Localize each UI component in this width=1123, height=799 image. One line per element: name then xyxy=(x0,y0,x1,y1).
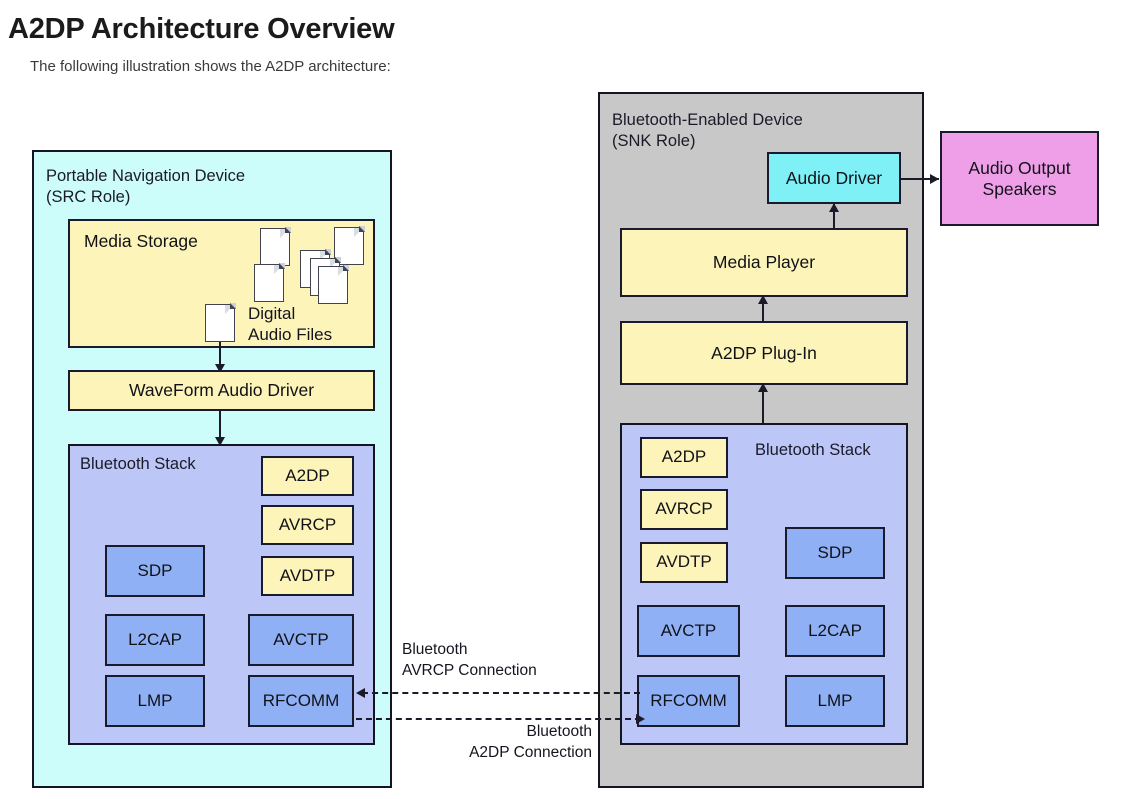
protocol-label: AVRCP xyxy=(279,515,336,535)
protocol-label: AVCTP xyxy=(661,621,716,641)
protocol-label: LMP xyxy=(818,691,853,711)
document-icon xyxy=(205,304,235,342)
a2dp-plugin-label: A2DP Plug-In xyxy=(711,343,817,364)
flow-arrow-head xyxy=(758,295,768,304)
protocol-label: AVCTP xyxy=(273,630,328,650)
document-icon xyxy=(254,264,284,302)
avrcp-connection-line xyxy=(362,692,640,694)
audio-output-speakers-box: Audio Output Speakers xyxy=(940,131,1099,226)
src-bluetooth-stack-label: Bluetooth Stack xyxy=(80,454,196,475)
avrcp-connection-arrow xyxy=(356,688,365,698)
protocol-box-avrcp: AVRCP xyxy=(261,505,354,545)
protocol-label: L2CAP xyxy=(808,621,862,641)
protocol-label: L2CAP xyxy=(128,630,182,650)
protocol-label: A2DP xyxy=(662,447,706,467)
protocol-box-avdtp: AVDTP xyxy=(640,542,728,583)
protocol-box-lmp: LMP xyxy=(785,675,885,727)
avrcp-connection-label: Bluetooth AVRCP Connection xyxy=(402,640,537,682)
diagram-canvas: A2DP Architecture Overview The following… xyxy=(0,0,1123,799)
page-subtitle: The following illustration shows the A2D… xyxy=(30,58,391,75)
document-icon xyxy=(260,228,290,266)
protocol-label: AVDTP xyxy=(280,566,335,586)
flow-arrow-head xyxy=(758,383,768,392)
a2dp-connection-label: Bluetooth A2DP Connection xyxy=(380,722,592,764)
media-player-box: Media Player xyxy=(620,228,908,297)
src-device-label: Portable Navigation Device (SRC Role) xyxy=(46,166,376,209)
a2dp-connection-arrow xyxy=(636,714,645,724)
protocol-box-rfcomm: RFCOMM xyxy=(248,675,354,727)
protocol-box-sdp: SDP xyxy=(785,527,885,579)
protocol-box-l2cap: L2CAP xyxy=(105,614,205,666)
waveform-audio-driver-label: WaveForm Audio Driver xyxy=(129,380,314,401)
media-player-label: Media Player xyxy=(713,252,815,273)
page-title: A2DP Architecture Overview xyxy=(8,13,394,46)
media-storage-label: Media Storage xyxy=(84,231,198,252)
protocol-box-sdp: SDP xyxy=(105,545,205,597)
protocol-box-lmp: LMP xyxy=(105,675,205,727)
flow-arrow-head xyxy=(930,174,939,184)
protocol-box-a2dp: A2DP xyxy=(261,456,354,496)
document-icon xyxy=(318,266,348,304)
a2dp-connection-line xyxy=(356,718,641,720)
protocol-box-l2cap: L2CAP xyxy=(785,605,885,657)
audio-driver-label: Audio Driver xyxy=(786,168,882,189)
protocol-box-avrcp: AVRCP xyxy=(640,489,728,530)
flow-arrow-head xyxy=(829,203,839,212)
protocol-box-avctp: AVCTP xyxy=(248,614,354,666)
protocol-box-avdtp: AVDTP xyxy=(261,556,354,596)
protocol-box-rfcomm: RFCOMM xyxy=(637,675,740,727)
protocol-box-avctp: AVCTP xyxy=(637,605,740,657)
flow-arrow-line xyxy=(219,411,221,439)
protocol-label: RFCOMM xyxy=(650,691,726,711)
protocol-label: AVDTP xyxy=(656,552,711,572)
a2dp-plugin-box: A2DP Plug-In xyxy=(620,321,908,385)
protocol-label: SDP xyxy=(138,561,173,581)
digital-audio-files-label: Digital Audio Files xyxy=(248,303,332,346)
speakers-label: Audio Output Speakers xyxy=(968,158,1070,199)
waveform-audio-driver-box: WaveForm Audio Driver xyxy=(68,370,375,411)
snk-device-label: Bluetooth-Enabled Device (SNK Role) xyxy=(612,110,912,153)
protocol-label: RFCOMM xyxy=(263,691,339,711)
protocol-label: LMP xyxy=(138,691,173,711)
audio-driver-box: Audio Driver xyxy=(767,152,901,204)
protocol-label: A2DP xyxy=(285,466,329,486)
protocol-label: SDP xyxy=(818,543,853,563)
snk-bluetooth-stack-label: Bluetooth Stack xyxy=(755,440,871,461)
protocol-box-a2dp: A2DP xyxy=(640,437,728,478)
protocol-label: AVRCP xyxy=(655,499,712,519)
flow-arrow-line xyxy=(219,342,221,365)
